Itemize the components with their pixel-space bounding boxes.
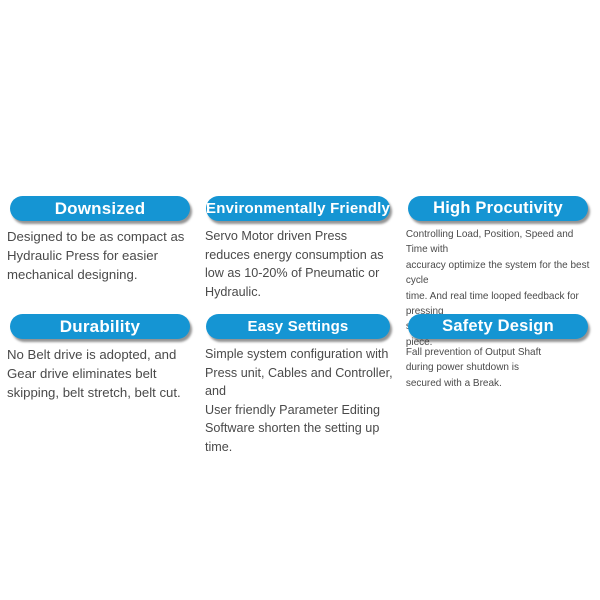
feature-card-downsized: Downsized Designed to be as compact as H… <box>0 196 200 284</box>
feature-grid: Downsized Designed to be as compact as H… <box>0 196 600 456</box>
feature-row: Downsized Designed to be as compact as H… <box>0 196 600 306</box>
feature-title-banner-downsized: Downsized <box>10 196 190 221</box>
feature-title-banner-environmentally-friendly: Environmentally Friendly <box>206 196 390 221</box>
feature-body-safety-design: Fall prevention of Output Shaft during p… <box>402 339 592 391</box>
feature-body-durability: No Belt drive is adopted, and Gear drive… <box>6 339 200 402</box>
feature-title-banner-high-procutivity: High Procutivity <box>408 196 588 221</box>
feature-card-easy-settings: Easy Settings Simple system configuratio… <box>200 314 400 456</box>
feature-title-banner-durability: Durability <box>10 314 190 339</box>
feature-card-durability: Durability No Belt drive is adopted, and… <box>0 314 200 402</box>
feature-card-safety-design: Safety Design Fall prevention of Output … <box>400 314 600 391</box>
feature-body-easy-settings: Simple system configuration with Press u… <box>202 339 400 456</box>
feature-highlights-page: Downsized Designed to be as compact as H… <box>0 0 600 600</box>
feature-card-environmentally-friendly: Environmentally Friendly Servo Motor dri… <box>200 196 400 301</box>
feature-row: Durability No Belt drive is adopted, and… <box>0 314 600 456</box>
feature-body-downsized: Designed to be as compact as Hydraulic P… <box>6 221 200 284</box>
feature-title-banner-easy-settings: Easy Settings <box>206 314 390 339</box>
feature-title-banner-safety-design: Safety Design <box>408 314 588 339</box>
feature-body-environmentally-friendly: Servo Motor driven Press reduces energy … <box>202 221 400 301</box>
